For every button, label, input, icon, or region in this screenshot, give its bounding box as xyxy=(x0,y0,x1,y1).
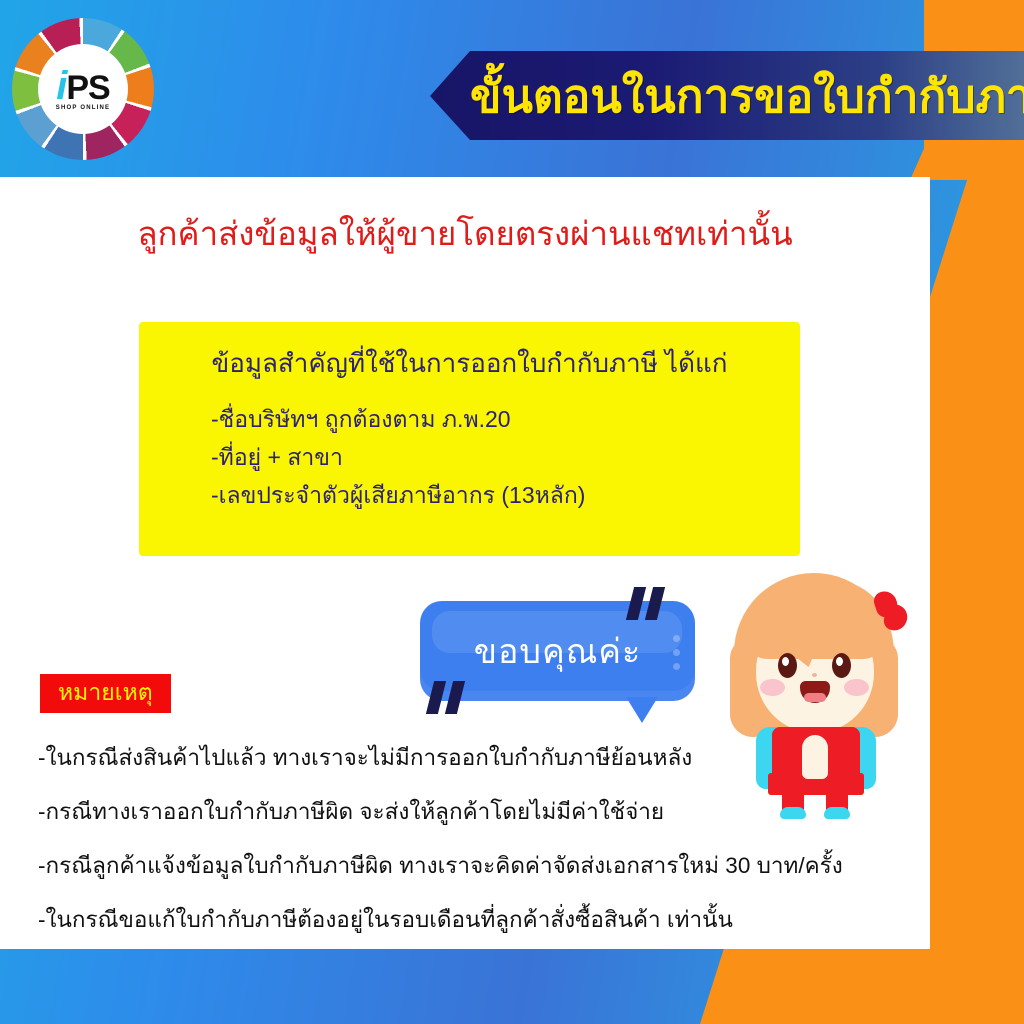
list-item: -ชื่อบริษัทฯ ถูกต้องตาม ภ.พ.20 xyxy=(211,401,800,439)
poster-canvas: iPS SHOP ONLINE ขั้นตอนในการขอใบกำกับภาษ… xyxy=(0,0,1024,1024)
logo-i-glyph: i xyxy=(56,64,66,108)
mascot-cheek-left xyxy=(760,679,785,696)
logo-ps-text: PS xyxy=(66,69,109,107)
note-badge: หมายเหตุ xyxy=(40,674,171,713)
speech-bubble: ขอบคุณค่ะ xyxy=(420,587,710,727)
list-item: -ที่อยู่ + สาขา xyxy=(211,439,800,477)
poster-header: iPS SHOP ONLINE ขั้นตอนในการขอใบกำกับภาษ… xyxy=(0,0,1024,180)
info-box-title: ข้อมูลสำคัญที่ใช้ในการออกใบกำกับภาษี ได้… xyxy=(139,348,800,379)
list-item: -ในกรณีส่งสินค้าไปแล้ว ทางเราจะไม่มีการอ… xyxy=(38,744,908,772)
page-title: ขั้นตอนในการขอใบกำกับภาษี xyxy=(470,73,1024,119)
mascot-nose xyxy=(812,673,817,677)
list-item: -กรณีทางเราออกใบกำกับภาษีผิด จะส่งให้ลูก… xyxy=(38,798,908,826)
logo-wordmark: iPS xyxy=(56,68,109,104)
mascot-eye-left xyxy=(778,653,797,678)
content-card: ลูกค้าส่งข้อมูลให้ผู้ขายโดยตรงผ่านแชทเท่… xyxy=(0,177,930,949)
list-item: -กรณีลูกค้าแจ้งข้อมูลใบกำกับภาษีผิด ทางเ… xyxy=(38,852,908,880)
notes-list: -ในกรณีส่งสินค้าไปแล้ว ทางเราจะไม่มีการอ… xyxy=(38,744,908,949)
list-item: -ในกรณีขอแก้ใบกำกับภาษีต้องอยู่ในรอบเดือ… xyxy=(38,906,908,934)
info-box: ข้อมูลสำคัญที่ใช้ในการออกใบกำกับภาษี ได้… xyxy=(139,322,800,556)
logo-center: iPS SHOP ONLINE xyxy=(38,44,128,134)
mascot-bangs xyxy=(742,581,888,659)
quote-mark-icon xyxy=(630,587,661,620)
mascot-ribbon-bow-icon xyxy=(875,591,919,631)
list-item: -เลขประจำตัวผู้เสียภาษีอากร (13หลัก) xyxy=(211,477,800,515)
mascot-cheek-right xyxy=(844,679,869,696)
mascot-eye-right xyxy=(832,653,851,678)
brand-logo-wheel: iPS SHOP ONLINE xyxy=(12,18,154,160)
quote-mark-icon xyxy=(430,681,461,714)
mascot-wai-hands xyxy=(802,735,828,779)
main-heading: ลูกค้าส่งข้อมูลให้ผู้ขายโดยตรงผ่านแชทเท่… xyxy=(0,214,930,254)
info-box-list: -ชื่อบริษัทฯ ถูกต้องตาม ภ.พ.20 -ที่อยู่ … xyxy=(139,401,800,515)
title-banner: ขั้นตอนในการขอใบกำกับภาษี xyxy=(430,51,1024,140)
